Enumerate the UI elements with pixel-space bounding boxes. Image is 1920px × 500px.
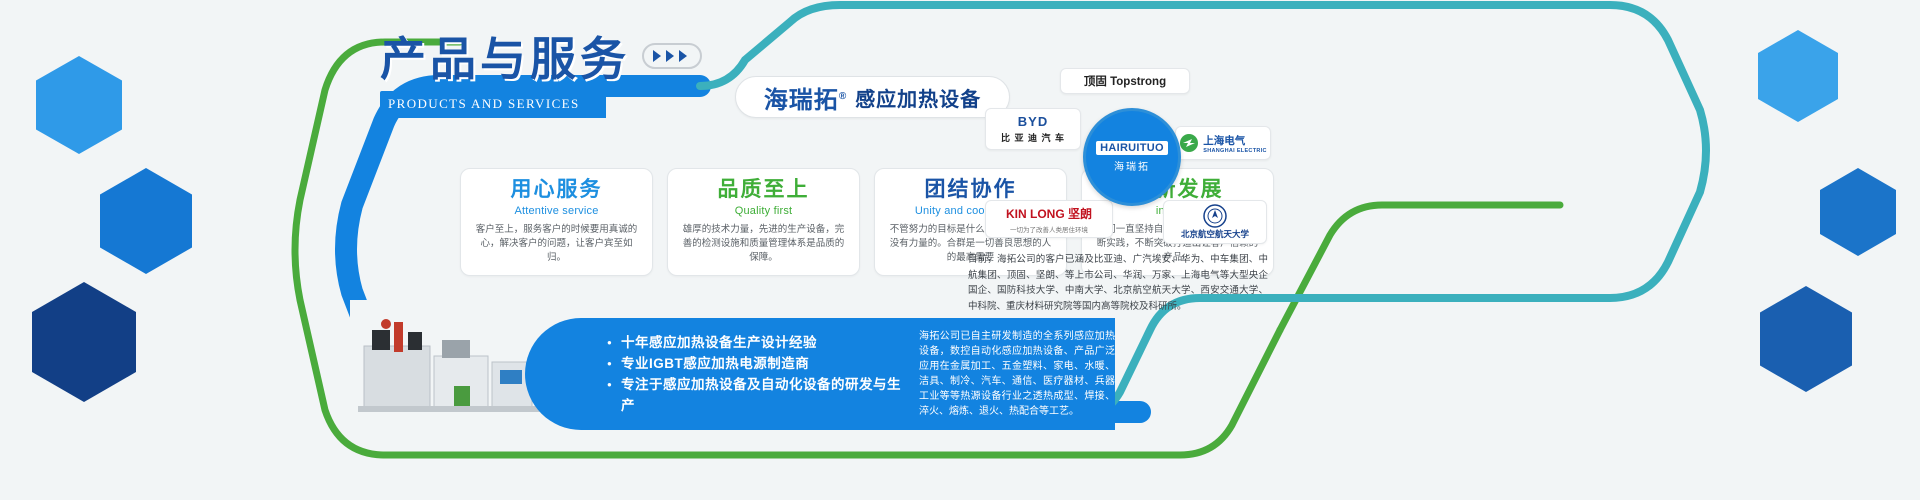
logo-beihang-cn: 北京航空航天大学 — [1181, 228, 1249, 240]
feature-card-title: 品质至上 — [680, 178, 847, 202]
feature-card-title: 用心服务 — [473, 178, 640, 202]
feature-card-body: 客户至上，服务客户的时候要用真诚的心，解决客户的问题，让客户宾至如归。 — [473, 223, 640, 265]
brand-badge: 海瑞拓® 感应加热设备 — [735, 76, 1010, 118]
logo-byd-mark: BYD — [1018, 114, 1048, 129]
feature-card[interactable]: 品质至上 Quality first 雄厚的技术力量，先进的生产设备，完善的检测… — [667, 168, 860, 276]
highlight-item: 十年感应加热设备生产设计经验 — [607, 332, 901, 353]
logo-beihang: 北京航空航天大学 — [1163, 200, 1267, 244]
brand-name: 海瑞拓® — [764, 80, 847, 115]
highlight-item: 专注于感应加热设备及自动化设备的研发与生产 — [607, 374, 901, 416]
highlight-item: 专业IGBT感应加热电源制造商 — [607, 353, 901, 374]
logo-kinlong-sub: 一切为了改善人类居住环境 — [1010, 224, 1088, 234]
feature-card[interactable]: 用心服务 Attentive service 客户至上，服务客户的时候要用真诚的… — [460, 168, 653, 276]
hexagon-decoration — [32, 282, 136, 402]
logo-topstrong-cn: 顶固 — [1084, 76, 1107, 88]
hexagon-decoration — [1758, 30, 1838, 122]
highlights-list: 十年感应加热设备生产设计经验 专业IGBT感应加热电源制造商 专注于感应加热设备… — [607, 332, 901, 416]
logo-shanghai-en: SHANGHAI ELECTRIC — [1203, 148, 1266, 154]
logo-shanghai-electric: 上海电气 SHANGHAI ELECTRIC — [1175, 126, 1271, 160]
page-title: 产品与服务 — [380, 33, 630, 85]
hexagon-decoration — [100, 168, 192, 274]
logo-kinlong-main: KIN LONG 坚朗 — [1006, 205, 1092, 222]
logo-topstrong: 顶固 Topstrong — [1060, 68, 1190, 94]
hexagon-decoration — [36, 56, 122, 154]
feature-card-subtitle: Attentive service — [473, 205, 640, 217]
poster-canvas: 产品与服务 PRODUCTS AND SERVICES 海瑞拓® 感应加热设备 … — [0, 0, 1920, 500]
clients-paragraph: 目前，海拓公司的客户已涵及比亚迪、广汽埃安、华为、中车集团、中航集团、顶固、坚朗… — [968, 252, 1268, 314]
circle-logo-en: HAIRUITUO — [1096, 141, 1168, 155]
page-subtitle: PRODUCTS AND SERVICES — [380, 91, 606, 118]
client-logo-wall: 顶固 Topstrong BYD 比 亚 迪 汽 车 上海电气 SHANGHAI… — [975, 58, 1245, 258]
company-circle-logo: HAIRUITUO 海瑞拓 — [1083, 108, 1181, 206]
brand-name-text: 海瑞拓 — [764, 87, 839, 114]
logo-topstrong-en: Topstrong — [1110, 76, 1166, 88]
banner-paragraph: 海拓公司已自主研发制造的全系列感应加热设备，数控自动化感应加热设备、产品广泛应用… — [919, 329, 1115, 419]
logo-kinlong: KIN LONG 坚朗 一切为了改善人类居住环境 — [985, 200, 1113, 238]
logo-byd: BYD 比 亚 迪 汽 车 — [985, 108, 1081, 150]
brand-tagline: 感应加热设备 — [855, 83, 981, 112]
triple-chevron-right-icon — [642, 43, 702, 69]
page-title-group: 产品与服务 PRODUCTS AND SERVICES — [380, 33, 702, 85]
hexagon-decoration — [1820, 168, 1896, 256]
feature-card-body: 雄厚的技术力量，先进的生产设备，完善的检测设施和质量管理体系是品质的保障。 — [680, 223, 847, 265]
logo-shanghai-cn: 上海电气 — [1203, 133, 1245, 148]
shanghai-electric-mark-icon — [1179, 133, 1199, 153]
hexagon-decoration — [1760, 286, 1852, 392]
logo-byd-cn: 比 亚 迪 汽 车 — [1001, 131, 1065, 144]
beihang-crest-icon — [1203, 204, 1227, 228]
registered-trademark-icon: ® — [839, 91, 847, 102]
feature-card-subtitle: Quality first — [680, 205, 847, 217]
highlights-banner: 十年感应加热设备生产设计经验 专业IGBT感应加热电源制造商 专注于感应加热设备… — [525, 318, 1115, 430]
circle-logo-cn: 海瑞拓 — [1114, 158, 1150, 173]
